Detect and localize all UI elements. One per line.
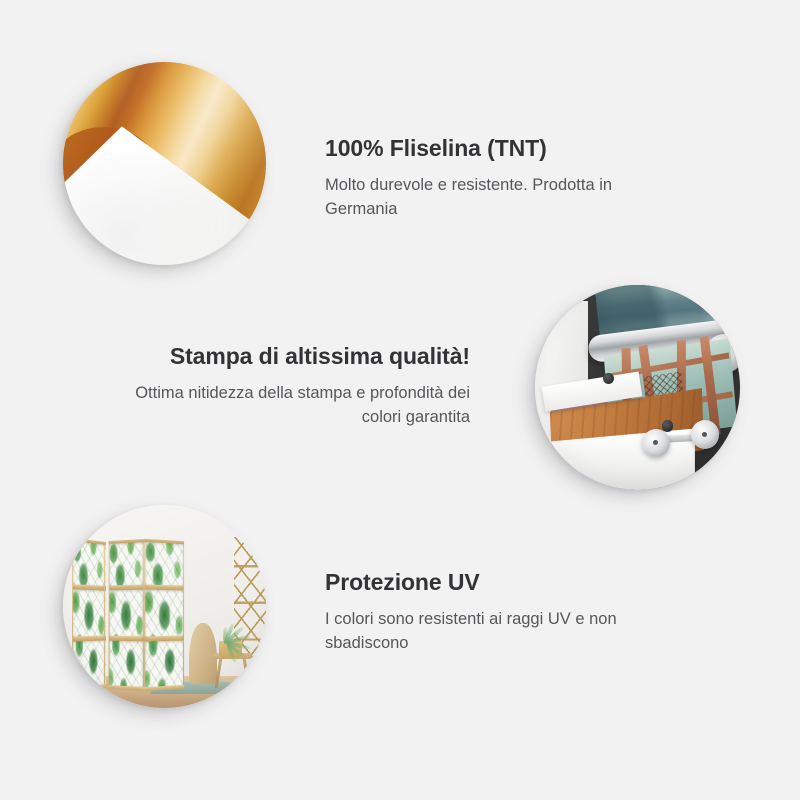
feature-body: Molto durevole e resistente. Prodotta in… xyxy=(325,174,685,222)
room-photo-layers xyxy=(63,505,266,708)
press-photo-layers xyxy=(535,285,740,490)
feature-text-stampa: Stampa di altissima qualità! Ottima niti… xyxy=(110,342,470,429)
wallpaper-photo-layers xyxy=(63,62,266,265)
room-vignette xyxy=(63,505,266,708)
feature-heading: 100% Fliselina (TNT) xyxy=(325,134,685,163)
tropical-room-divider-photo xyxy=(63,505,266,708)
printing-press-photo xyxy=(535,285,740,490)
feature-heading: Stampa di altissima qualità! xyxy=(110,342,470,371)
press-vignette xyxy=(535,285,740,490)
feature-text-protezione-uv: Protezione UV I colori sono resistenti a… xyxy=(325,568,685,655)
feature-heading: Protezione UV xyxy=(325,568,685,597)
peeling-wallpaper-corner-photo xyxy=(63,62,266,265)
feature-body: Ottima nitidezza della stampa e profondi… xyxy=(110,382,470,430)
feature-text-fliselina: 100% Fliselina (TNT) Molto durevole e re… xyxy=(325,134,685,221)
feature-collage: 100% Fliselina (TNT) Molto durevole e re… xyxy=(0,0,800,800)
feature-body: I colori sono resistenti ai raggi UV e n… xyxy=(325,608,685,656)
wallpaper-shading xyxy=(63,62,266,265)
